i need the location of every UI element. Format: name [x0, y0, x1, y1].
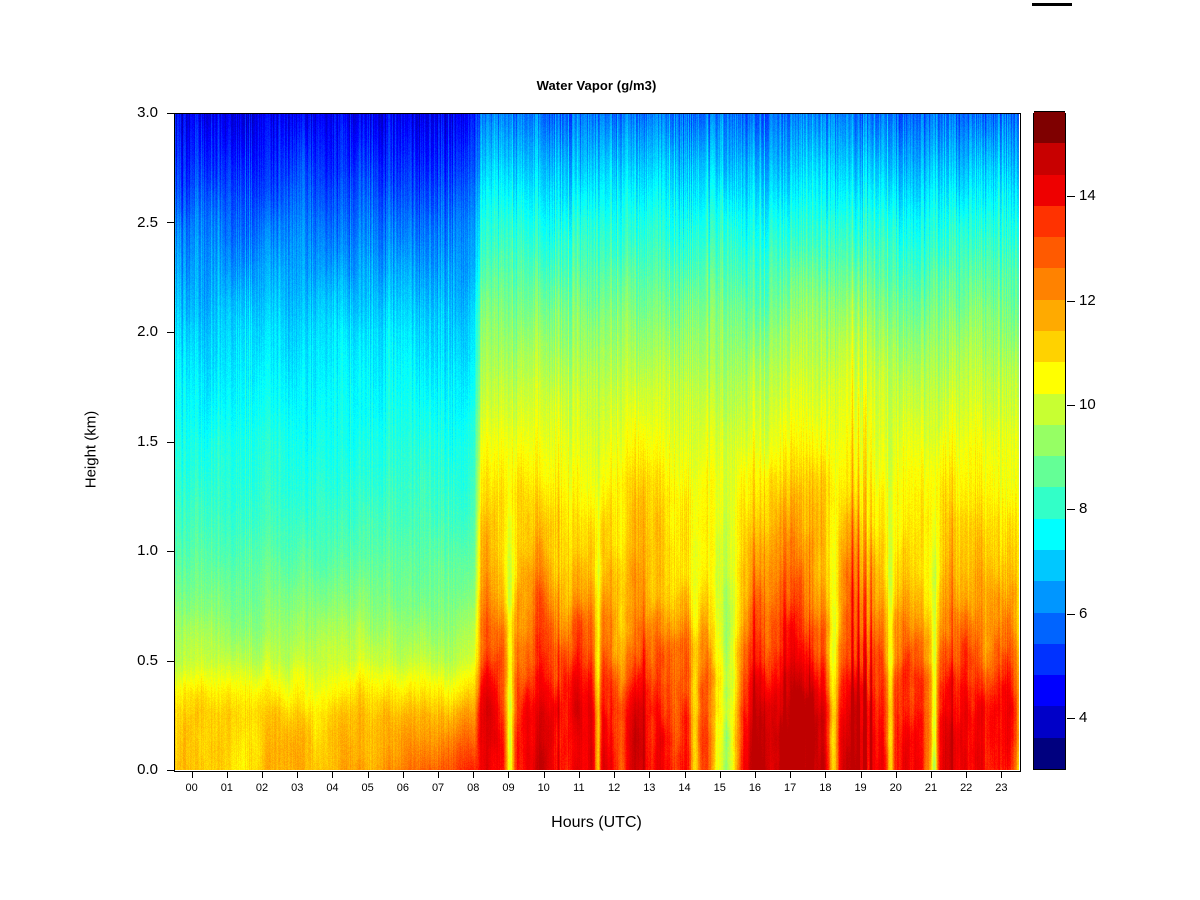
- colorbar-band: [1034, 267, 1065, 299]
- colorbar-tick-label: 14: [1079, 188, 1096, 203]
- x-axis-title: Hours (UTC): [174, 814, 1019, 832]
- x-tick-label: 14: [665, 782, 705, 794]
- colorbar-band: [1034, 486, 1065, 518]
- colorbar-tick-label: 4: [1079, 710, 1087, 725]
- colorbar-band: [1034, 111, 1065, 143]
- colorbar-band: [1034, 424, 1065, 456]
- x-tick-label: 03: [277, 782, 317, 794]
- x-tick-label: 01: [207, 782, 247, 794]
- x-tick-label: 20: [876, 782, 916, 794]
- x-tick-label: 10: [524, 782, 564, 794]
- x-tick-label: 15: [700, 782, 740, 794]
- y-tick-mark: [167, 113, 174, 114]
- colorbar-band: [1034, 612, 1065, 644]
- colorbar-tick-mark: [1067, 405, 1075, 406]
- x-tick-label: 02: [242, 782, 282, 794]
- x-tick-mark: [473, 771, 474, 778]
- x-tick-mark: [262, 771, 263, 778]
- x-tick-label: 11: [559, 782, 599, 794]
- colorbar-band: [1034, 174, 1065, 206]
- y-tick-label: 1.0: [112, 543, 158, 558]
- x-tick-label: 08: [453, 782, 493, 794]
- x-tick-mark: [825, 771, 826, 778]
- colorbar-band: [1034, 236, 1065, 268]
- page-title: Water Vapor (g/m3): [174, 78, 1019, 93]
- colorbar-band: [1034, 361, 1065, 393]
- heatmap-plot-area: [174, 113, 1019, 770]
- colorbar-band: [1034, 393, 1065, 425]
- x-tick-mark: [649, 771, 650, 778]
- x-tick-mark: [297, 771, 298, 778]
- y-tick-mark: [167, 332, 174, 333]
- y-tick-mark: [167, 222, 174, 223]
- x-tick-mark: [403, 771, 404, 778]
- x-tick-label: 07: [418, 782, 458, 794]
- colorbar-band: [1034, 205, 1065, 237]
- colorbar-tick-mark: [1067, 196, 1075, 197]
- y-tick-label: 1.5: [112, 434, 158, 449]
- colorbar-band: [1034, 518, 1065, 550]
- colorbar-tick-mark: [1067, 509, 1075, 510]
- y-tick-mark: [167, 770, 174, 771]
- x-tick-mark: [614, 771, 615, 778]
- colorbar-band: [1034, 643, 1065, 675]
- x-tick-mark: [966, 771, 967, 778]
- colorbar-tick-label: 10: [1079, 397, 1096, 412]
- x-tick-mark: [508, 771, 509, 778]
- x-tick-label: 22: [946, 782, 986, 794]
- colorbar-band: [1034, 142, 1065, 174]
- x-tick-mark: [1001, 771, 1002, 778]
- x-tick-label: 00: [172, 782, 212, 794]
- x-tick-mark: [931, 771, 932, 778]
- x-tick-mark: [544, 771, 545, 778]
- x-tick-mark: [579, 771, 580, 778]
- x-tick-label: 04: [312, 782, 352, 794]
- x-tick-label: 05: [348, 782, 388, 794]
- top-edge-artifact: [1032, 3, 1072, 6]
- y-tick-label: 2.5: [112, 215, 158, 230]
- colorbar-tick-label: 12: [1079, 293, 1096, 308]
- x-tick-label: 18: [805, 782, 845, 794]
- x-tick-mark: [755, 771, 756, 778]
- colorbar-band: [1034, 674, 1065, 706]
- x-tick-mark: [896, 771, 897, 778]
- x-tick-label: 06: [383, 782, 423, 794]
- colorbar-band: [1034, 330, 1065, 362]
- colorbar-band: [1034, 455, 1065, 487]
- figure-canvas: Water Vapor (g/m3) 0.00.51.01.52.02.53.0…: [0, 0, 1200, 900]
- y-axis-title: Height (km): [83, 350, 100, 550]
- x-tick-mark: [438, 771, 439, 778]
- y-tick-mark: [167, 442, 174, 443]
- x-tick-label: 16: [735, 782, 775, 794]
- colorbar-tick-mark: [1067, 718, 1075, 719]
- x-tick-mark: [861, 771, 862, 778]
- y-tick-label: 0.5: [112, 653, 158, 668]
- colorbar-band: [1034, 705, 1065, 737]
- x-tick-label: 12: [594, 782, 634, 794]
- x-tick-label: 13: [629, 782, 669, 794]
- x-tick-mark: [227, 771, 228, 778]
- colorbar-band: [1034, 549, 1065, 581]
- x-tick-label: 21: [911, 782, 951, 794]
- x-tick-mark: [685, 771, 686, 778]
- y-tick-label: 3.0: [112, 105, 158, 120]
- x-tick-mark: [720, 771, 721, 778]
- y-tick-label: 2.0: [112, 324, 158, 339]
- colorbar-band: [1034, 580, 1065, 612]
- x-tick-mark: [790, 771, 791, 778]
- colorbar-tick-mark: [1067, 614, 1075, 615]
- colorbar-tick-mark: [1067, 301, 1075, 302]
- y-tick-mark: [167, 551, 174, 552]
- colorbar-band: [1034, 299, 1065, 331]
- x-tick-label: 19: [841, 782, 881, 794]
- colorbar-band: [1034, 737, 1065, 769]
- x-tick-mark: [192, 771, 193, 778]
- x-tick-label: 23: [981, 782, 1021, 794]
- y-tick-mark: [167, 661, 174, 662]
- colorbar-tick-label: 6: [1079, 606, 1087, 621]
- colorbar-tick-label: 8: [1079, 501, 1087, 516]
- x-tick-label: 09: [488, 782, 528, 794]
- y-tick-label: 0.0: [112, 762, 158, 777]
- x-tick-label: 17: [770, 782, 810, 794]
- x-tick-mark: [368, 771, 369, 778]
- water-vapor-heatmap: [174, 113, 1019, 770]
- x-tick-mark: [332, 771, 333, 778]
- colorbar: [1033, 113, 1066, 770]
